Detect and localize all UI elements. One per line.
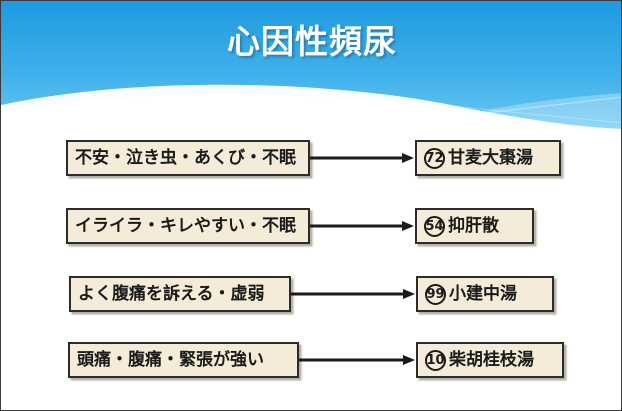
remedy-number-badge: 54: [424, 216, 445, 237]
remedy-number-badge: 10: [425, 350, 446, 371]
remedy-label: 小建中湯: [449, 286, 517, 303]
remedy-label: 柴胡桂枝湯: [449, 352, 534, 369]
symptom-label: 不安・泣き虫・あくび・不眠: [75, 150, 296, 167]
arrow-right-icon-1: [310, 152, 415, 164]
remedy-box-4[interactable]: 10 柴胡桂枝湯: [416, 342, 564, 378]
flow-row: 頭痛・腹痛・緊張が強い 10 柴胡桂枝湯: [1, 342, 622, 378]
slide-canvas: 心因性頻尿 不安・泣き虫・あくび・不眠 72 甘麦大棗湯 イライラ・キレやすい・…: [0, 0, 622, 411]
flow-row: 不安・泣き虫・あくび・不眠 72 甘麦大棗湯: [1, 140, 622, 176]
symptom-box-3[interactable]: よく腹痛を訴える・虚弱: [69, 276, 291, 312]
flow-row: よく腹痛を訴える・虚弱 99 小建中湯: [1, 276, 622, 312]
arrow-right-icon-4: [299, 354, 416, 366]
symptom-box-1[interactable]: 不安・泣き虫・あくび・不眠: [66, 140, 310, 176]
remedy-label: 甘麦大棗湯: [448, 150, 533, 167]
page-title: 心因性頻尿: [1, 22, 622, 62]
symptom-label: 頭痛・腹痛・緊張が強い: [77, 352, 264, 369]
flow-row: イライラ・キレやすい・不眠 54 抑肝散: [1, 208, 622, 244]
remedy-number-badge: 99: [425, 284, 446, 305]
remedy-box-2[interactable]: 54 抑肝散: [415, 208, 534, 244]
remedy-box-1[interactable]: 72 甘麦大棗湯: [415, 140, 561, 176]
arrow-right-icon-3: [291, 288, 416, 300]
symptom-box-2[interactable]: イライラ・キレやすい・不眠: [66, 208, 310, 244]
remedy-box-3[interactable]: 99 小建中湯: [416, 276, 554, 312]
symptom-label: イライラ・キレやすい・不眠: [75, 218, 296, 235]
remedy-number-badge: 72: [424, 148, 445, 169]
arrow-right-icon-2: [310, 220, 415, 232]
symptom-label: よく腹痛を訴える・虚弱: [78, 286, 265, 303]
banner-wave-graphic: [1, 1, 622, 131]
header-banner: 心因性頻尿: [1, 1, 622, 131]
remedy-label: 抑肝散: [448, 218, 499, 235]
symptom-box-4[interactable]: 頭痛・腹痛・緊張が強い: [68, 342, 299, 378]
